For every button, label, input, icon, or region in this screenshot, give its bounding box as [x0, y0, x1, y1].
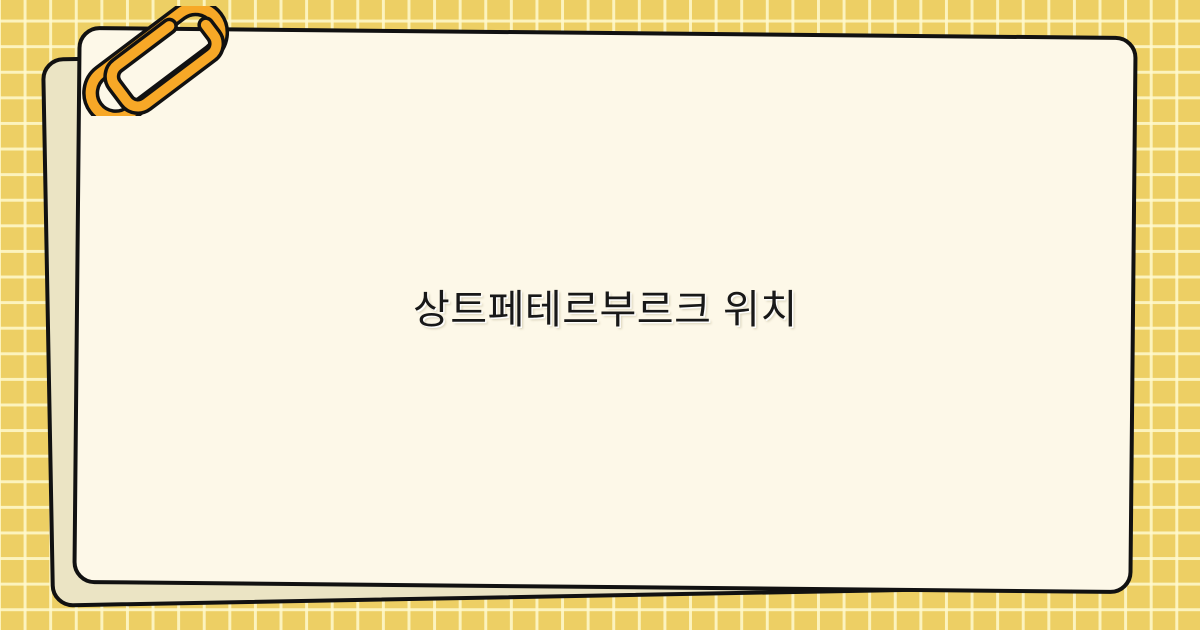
- note-card: 상트페테르부르크 위치: [72, 26, 1137, 594]
- page-title: 상트페테르부르크 위치: [353, 286, 858, 334]
- poster-canvas: 상트페테르부르크 위치: [0, 0, 1200, 630]
